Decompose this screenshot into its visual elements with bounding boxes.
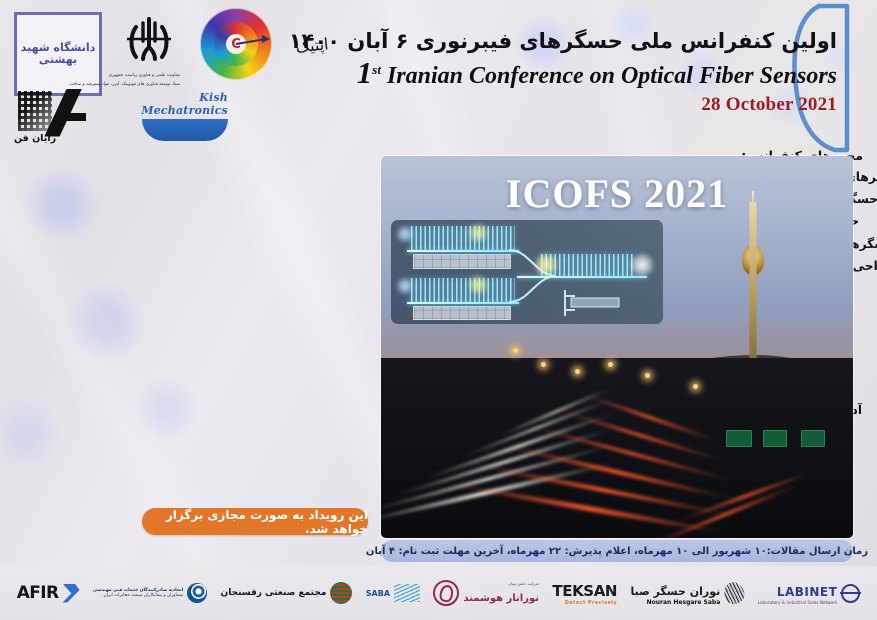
- conference-title-english-rest: Iranian Conference on Optical Fiber Sens…: [387, 63, 837, 89]
- noor-mark-icon: [433, 580, 459, 606]
- light-glow: [469, 276, 487, 294]
- street-lamp: [513, 348, 518, 353]
- sponsor-name: مجتمع صنعتی رفسنجان: [221, 588, 327, 598]
- nouran-mark-icon: [722, 580, 747, 606]
- sponsor-subtitle: Laboratory & Industrial Sales Network: [758, 600, 838, 605]
- sponsor-subtitle: Detect Precisely: [552, 600, 617, 606]
- sponsor-teksan: TEKSAN Detect Precisely: [552, 581, 617, 606]
- street-lamp: [645, 373, 650, 378]
- sponsor-name: LABINET: [777, 585, 837, 599]
- virtual-event-notice-badge: این رویداد به صورت مجازی برگزار خواهد شد…: [142, 508, 368, 535]
- iran-emblem-icon: [123, 17, 175, 61]
- light-glow: [397, 226, 413, 242]
- sponsor-name: نورانار هوشمند: [463, 593, 539, 604]
- headline-block: اولین کنفرانس ملی حسگرهای فیبرنوری ۶ آبا…: [317, 28, 837, 116]
- icofs-banner-title: ICOFS 2021: [381, 170, 853, 217]
- sponsor-subtitle: Nouran Hesgare Saba: [630, 599, 720, 606]
- waveform-panel: [413, 254, 511, 269]
- conference-date-english: 28 October 2021: [317, 94, 837, 116]
- gov-logo-caption-line2: ستاد توسعه فناوری های فوتونیک، لیزر، موا…: [118, 82, 180, 88]
- union-mark-icon: [187, 583, 207, 603]
- sponsor-footer-strip: LABINET Laboratory & Industrial Sales Ne…: [0, 566, 877, 620]
- fiber-bragg-grating: [411, 226, 515, 252]
- sponsor-telecom-exporters-union: اتحادیه صادرکنندگان خدمات فنی مهندسی مشا…: [93, 583, 207, 603]
- gov-logo-caption-line1: معاونت علمی و فناوری ریاست جمهوری: [118, 73, 180, 79]
- logo-optics-photonics-society-iran: C: [200, 8, 272, 80]
- sponsor-rafsanjan-industrial-complex: مجتمع صنعتی رفسنجان: [221, 582, 353, 604]
- rayan-bar-shape: [62, 113, 86, 121]
- sponsor-name: TEKSAN: [552, 582, 617, 600]
- street-lamp: [693, 384, 698, 389]
- kish-swoop-shape: [142, 119, 228, 141]
- photo-highway-night: [381, 358, 853, 538]
- highway-sign: [763, 430, 787, 447]
- optical-fiber-line: [407, 302, 519, 304]
- sbu-logo-glyph: دانشگاه شهید بهشتی: [17, 42, 99, 67]
- kish-wordmark: Kish Mechatronics: [130, 91, 228, 117]
- light-glow: [397, 278, 413, 294]
- conference-poster: دانشگاه شهید بهشتی معاونت علمی و فناوری …: [0, 0, 877, 620]
- sponsor-name: AFIR: [17, 583, 59, 603]
- caliper-icon: [559, 288, 625, 318]
- rafsanjan-mark-icon: [330, 582, 352, 604]
- sponsor-name: SABA: [366, 589, 390, 598]
- deadline-bar-label: زمان ارسال مقالات:۱۰ شهریور الی ۱۰ مهرما…: [366, 546, 868, 557]
- rayan-dot-matrix: [18, 91, 52, 131]
- street-lamp: [541, 362, 546, 367]
- ordinal-suffix: st: [372, 62, 381, 77]
- fiber-bragg-grating: [411, 278, 515, 304]
- conference-title-english: 1st Iranian Conference on Optical Fiber …: [317, 56, 837, 91]
- rayan-mark-icon: [18, 91, 114, 135]
- highway-sign: [726, 430, 752, 447]
- sponsor-subtitle: مشاوران و پیمانکاران صنعت مخابرات ایران: [93, 593, 183, 598]
- opsi-arrow-icon: [200, 8, 272, 80]
- logo-kish-mechatronics: Kish Mechatronics: [130, 92, 228, 140]
- sponsor-name: نوران حسگر صبا: [630, 585, 720, 598]
- sponsor-noor-anar-hooshmand: شرکت دانش بنیان نورانار هوشمند: [433, 580, 539, 606]
- deadline-bar: زمان ارسال مقالات:۱۰ شهریور الی ۱۰ مهرما…: [381, 540, 853, 562]
- optical-fiber-circuit-illustration: [391, 220, 663, 324]
- waveform-panel: [413, 306, 511, 320]
- iran-emblem-glyph: [118, 17, 180, 70]
- logo-vice-presidency-science-technology: معاونت علمی و فناوری ریاست جمهوری ستاد ت…: [118, 14, 180, 90]
- highway-sign: [801, 430, 825, 447]
- sponsor-labinet: LABINET Laboratory & Industrial Sales Ne…: [758, 581, 861, 605]
- safir-mark-icon: [63, 584, 80, 603]
- hero-photo-tehran-milad-tower: ICOFS 2021: [381, 156, 853, 538]
- conference-title-persian: اولین کنفرانس ملی حسگرهای فیبرنوری ۶ آبا…: [317, 28, 837, 54]
- fiber-coupler-icon: [509, 244, 557, 308]
- sponsor-saba: SABA: [366, 584, 420, 602]
- ordinal-number: 1: [357, 55, 373, 90]
- sponsor-safir: AFIR: [17, 583, 80, 603]
- virtual-event-notice-label: این رویداد به صورت مجازی برگزار خواهد شد…: [142, 508, 368, 536]
- sponsor-subtitle: شرکت دانش بنیان: [463, 581, 539, 586]
- street-lamp: [575, 369, 580, 374]
- light-glow: [469, 224, 487, 242]
- street-lamp: [608, 362, 613, 367]
- light-glow: [631, 254, 653, 276]
- saba-mark-icon: [394, 584, 420, 602]
- light-glow: [535, 254, 557, 276]
- sponsor-nouran-hesgare-saba: نوران حسگر صبا Nouran Hesgare Saba: [630, 580, 744, 606]
- optical-fiber-line: [407, 250, 519, 252]
- logo-rayan-fan: رایان فن: [14, 88, 114, 146]
- labinet-mark-icon: [841, 584, 860, 603]
